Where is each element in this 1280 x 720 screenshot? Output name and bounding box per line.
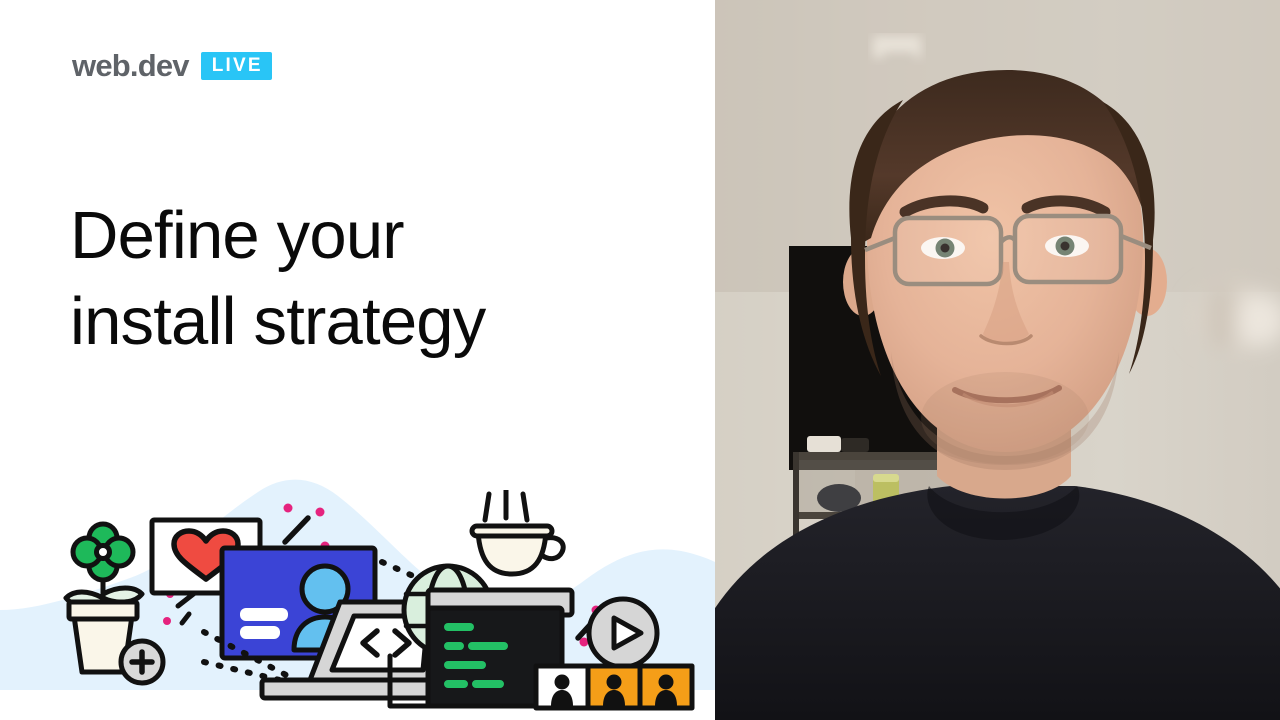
play-button [589,599,657,667]
potted-plant [66,524,163,683]
coffee-cup [472,490,563,574]
sparkles-top [284,504,330,551]
logo-wordmark: web.dev [72,50,189,81]
avatar-tiles [536,666,692,708]
slide-title: Define your install strategy [70,193,670,365]
web-dev-live-logo: web.dev LIVE [72,50,272,81]
slide-panel: web.dev LIVE Define your install strateg… [0,0,715,720]
presenter-webcam-feed [715,0,1280,720]
presentation-screen: web.dev LIVE Define your install strateg… [0,0,1280,720]
live-badge: LIVE [201,52,272,80]
web-dev-live-illustration [0,490,715,720]
